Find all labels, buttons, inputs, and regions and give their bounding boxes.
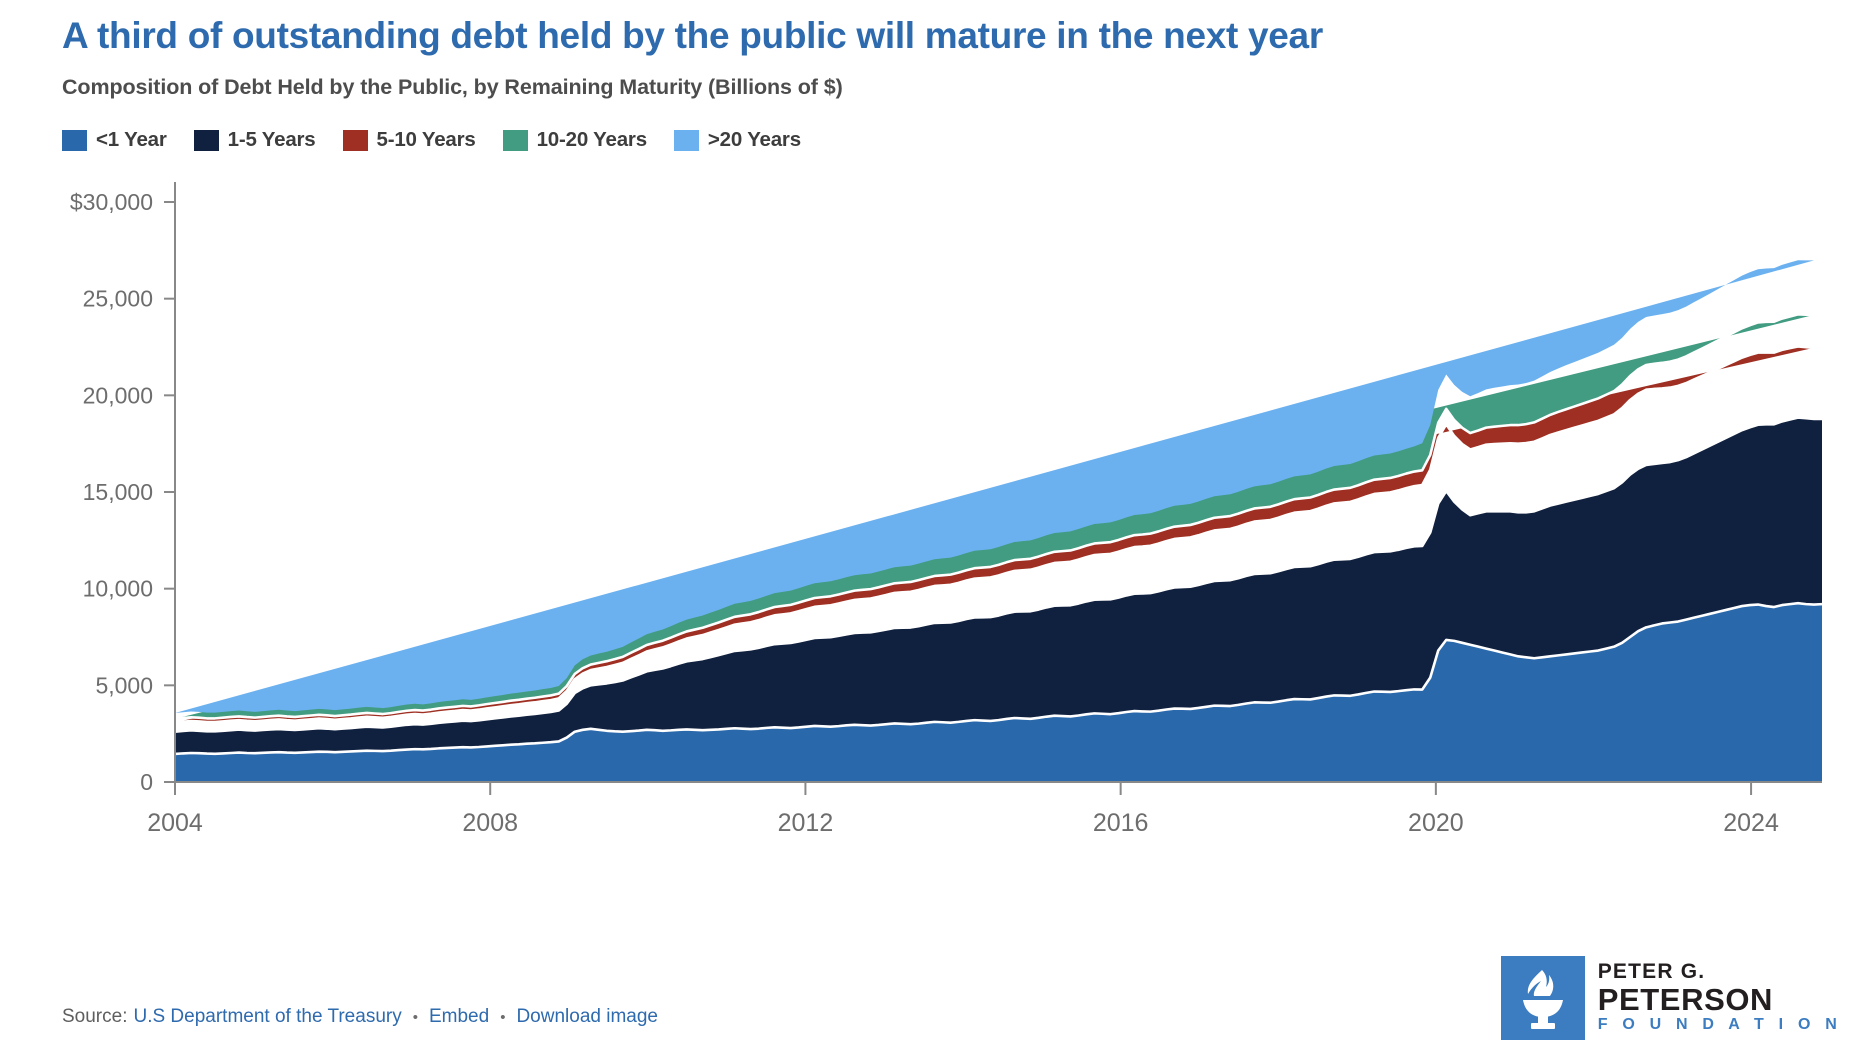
chart-legend: <1 Year1-5 Years5-10 Years10-20 Years>20…	[0, 128, 1850, 152]
embed-link[interactable]: Embed	[429, 1006, 489, 1028]
legend-swatch-icon	[503, 130, 528, 151]
x-axis-tick-label: 2020	[1408, 809, 1464, 837]
legend-label: 1-5 Years	[228, 128, 316, 152]
legend-label: 10-20 Years	[537, 128, 647, 152]
y-axis-tick-label: 5,000	[95, 673, 153, 699]
logo-line-1: PETER G.	[1598, 961, 1842, 984]
peterson-foundation-logo: PETER G. PETERSON F O U N D A T I O N	[1501, 956, 1842, 1040]
legend-label: 5-10 Years	[377, 128, 476, 152]
chart-subtitle: Composition of Debt Held by the Public, …	[62, 75, 1850, 100]
page-title: A third of outstanding debt held by the …	[62, 14, 1850, 58]
logo-line-2: PETERSON	[1598, 984, 1842, 1016]
stacked-area-chart-svg: $30,00025,00020,00015,00010,0005,0000200…	[0, 166, 1850, 866]
legend-item-1-year[interactable]: <1 Year	[62, 128, 167, 152]
x-axis-tick-label: 2008	[462, 809, 518, 837]
logo-line-3: F O U N D A T I O N	[1598, 1015, 1842, 1035]
y-axis-tick-label: $30,000	[70, 189, 153, 215]
x-axis-tick-label: 2024	[1723, 809, 1779, 837]
legend-item-5-10-years[interactable]: 5-10 Years	[343, 128, 476, 152]
x-axis-tick-label: 2016	[1093, 809, 1149, 837]
source-label: Source:	[62, 1006, 127, 1028]
source-link[interactable]: U.S Department of the Treasury	[133, 1006, 401, 1028]
footer-separator-1: •	[413, 1009, 418, 1026]
chart-figure: A third of outstanding debt held by the …	[0, 0, 1850, 1054]
legend-item-1-5-years[interactable]: 1-5 Years	[194, 128, 316, 152]
legend-swatch-icon	[343, 130, 368, 151]
logo-wordmark: PETER G. PETERSON F O U N D A T I O N	[1585, 956, 1842, 1040]
chart-footer: Source: U.S Department of the Treasury •…	[62, 1006, 658, 1028]
y-axis-tick-label: 25,000	[83, 286, 153, 312]
download-image-link[interactable]: Download image	[516, 1006, 658, 1028]
y-axis-tick-label: 15,000	[83, 479, 153, 505]
x-axis-tick-label: 2012	[778, 809, 834, 837]
legend-swatch-icon	[674, 130, 699, 151]
legend-label: >20 Years	[708, 128, 801, 152]
legend-label: <1 Year	[96, 128, 167, 152]
x-axis-tick-label: 2004	[147, 809, 203, 837]
chart-plot-area: $30,00025,00020,00015,00010,0005,0000200…	[0, 166, 1850, 866]
footer-separator-2: •	[500, 1009, 505, 1026]
legend-swatch-icon	[62, 130, 87, 151]
legend-swatch-icon	[194, 130, 219, 151]
legend-item-10-20-years[interactable]: 10-20 Years	[503, 128, 647, 152]
legend-item-20-years[interactable]: >20 Years	[674, 128, 801, 152]
y-axis-tick-label: 0	[140, 769, 153, 795]
y-axis-tick-label: 10,000	[83, 576, 153, 602]
chart-header: A third of outstanding debt held by the …	[0, 0, 1850, 100]
torch-icon	[1501, 956, 1585, 1040]
y-axis-tick-label: 20,000	[83, 383, 153, 409]
